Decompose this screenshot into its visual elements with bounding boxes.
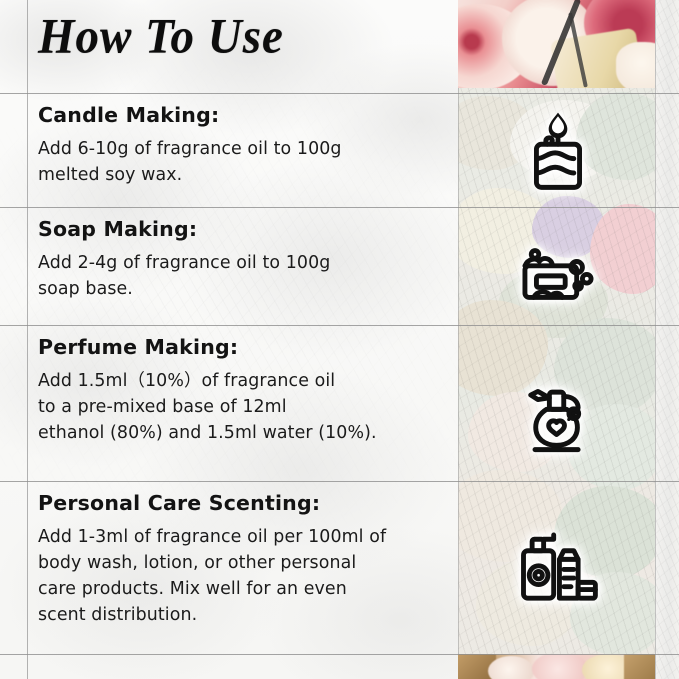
section-heading: Candle Making: xyxy=(38,103,448,127)
panel-right-rule xyxy=(655,0,656,679)
divider-soap xyxy=(0,325,679,326)
section-body: Add 1-3ml of fragrance oil per 100ml of … xyxy=(38,524,448,628)
body-line: ethanol (80%) and 1.5ml water (10%). xyxy=(38,420,448,446)
soap-bar-icon xyxy=(512,227,604,319)
perfume-bottle-icon xyxy=(512,372,604,464)
divider-title xyxy=(0,93,679,94)
section-heading: Perfume Making: xyxy=(38,335,448,359)
section-heading: Personal Care Scenting: xyxy=(38,491,448,515)
body-line: Add 1-3ml of fragrance oil per 100ml of xyxy=(38,524,448,550)
section-heading: Soap Making: xyxy=(38,217,448,241)
bottom-floral-photo xyxy=(458,654,655,679)
section-body: Add 6-10g of fragrance oil to 100g melte… xyxy=(38,136,448,188)
panel-left-rule xyxy=(458,88,459,654)
body-line: care products. Mix well for an even xyxy=(38,576,448,602)
divider-candle xyxy=(0,207,679,208)
page-title: How To Use xyxy=(38,8,284,65)
left-border-rule xyxy=(27,0,28,679)
personal-care-bottles-icon xyxy=(512,522,604,614)
right-edge-texture xyxy=(655,0,679,679)
body-line: melted soy wax. xyxy=(38,162,448,188)
section-candle-making: Candle Making: Add 6-10g of fragrance oi… xyxy=(38,103,448,188)
body-line: soap base. xyxy=(38,276,448,302)
divider-bottom xyxy=(0,654,679,655)
section-body: Add 1.5ml（10%）of fragrance oil to a pre-… xyxy=(38,368,448,446)
top-floral-photo xyxy=(458,0,655,88)
candle-icon xyxy=(512,104,604,196)
section-body: Add 2-4g of fragrance oil to 100g soap b… xyxy=(38,250,448,302)
body-line: scent distribution. xyxy=(38,602,448,628)
section-soap-making: Soap Making: Add 2-4g of fragrance oil t… xyxy=(38,217,448,302)
body-line: Add 2-4g of fragrance oil to 100g xyxy=(38,250,448,276)
body-line: to a pre-mixed base of 12ml xyxy=(38,394,448,420)
divider-perfume xyxy=(0,481,679,482)
body-line: Add 6-10g of fragrance oil to 100g xyxy=(38,136,448,162)
section-personal-care-scenting: Personal Care Scenting: Add 1-3ml of fra… xyxy=(38,491,448,628)
section-perfume-making: Perfume Making: Add 1.5ml（10%）of fragran… xyxy=(38,335,448,446)
body-line: body wash, lotion, or other personal xyxy=(38,550,448,576)
right-edge-strip xyxy=(655,0,679,679)
body-line: Add 1.5ml（10%）of fragrance oil xyxy=(38,368,448,394)
how-to-use-infographic: How To Use Candle Making: Add 6-10g of f… xyxy=(0,0,679,679)
